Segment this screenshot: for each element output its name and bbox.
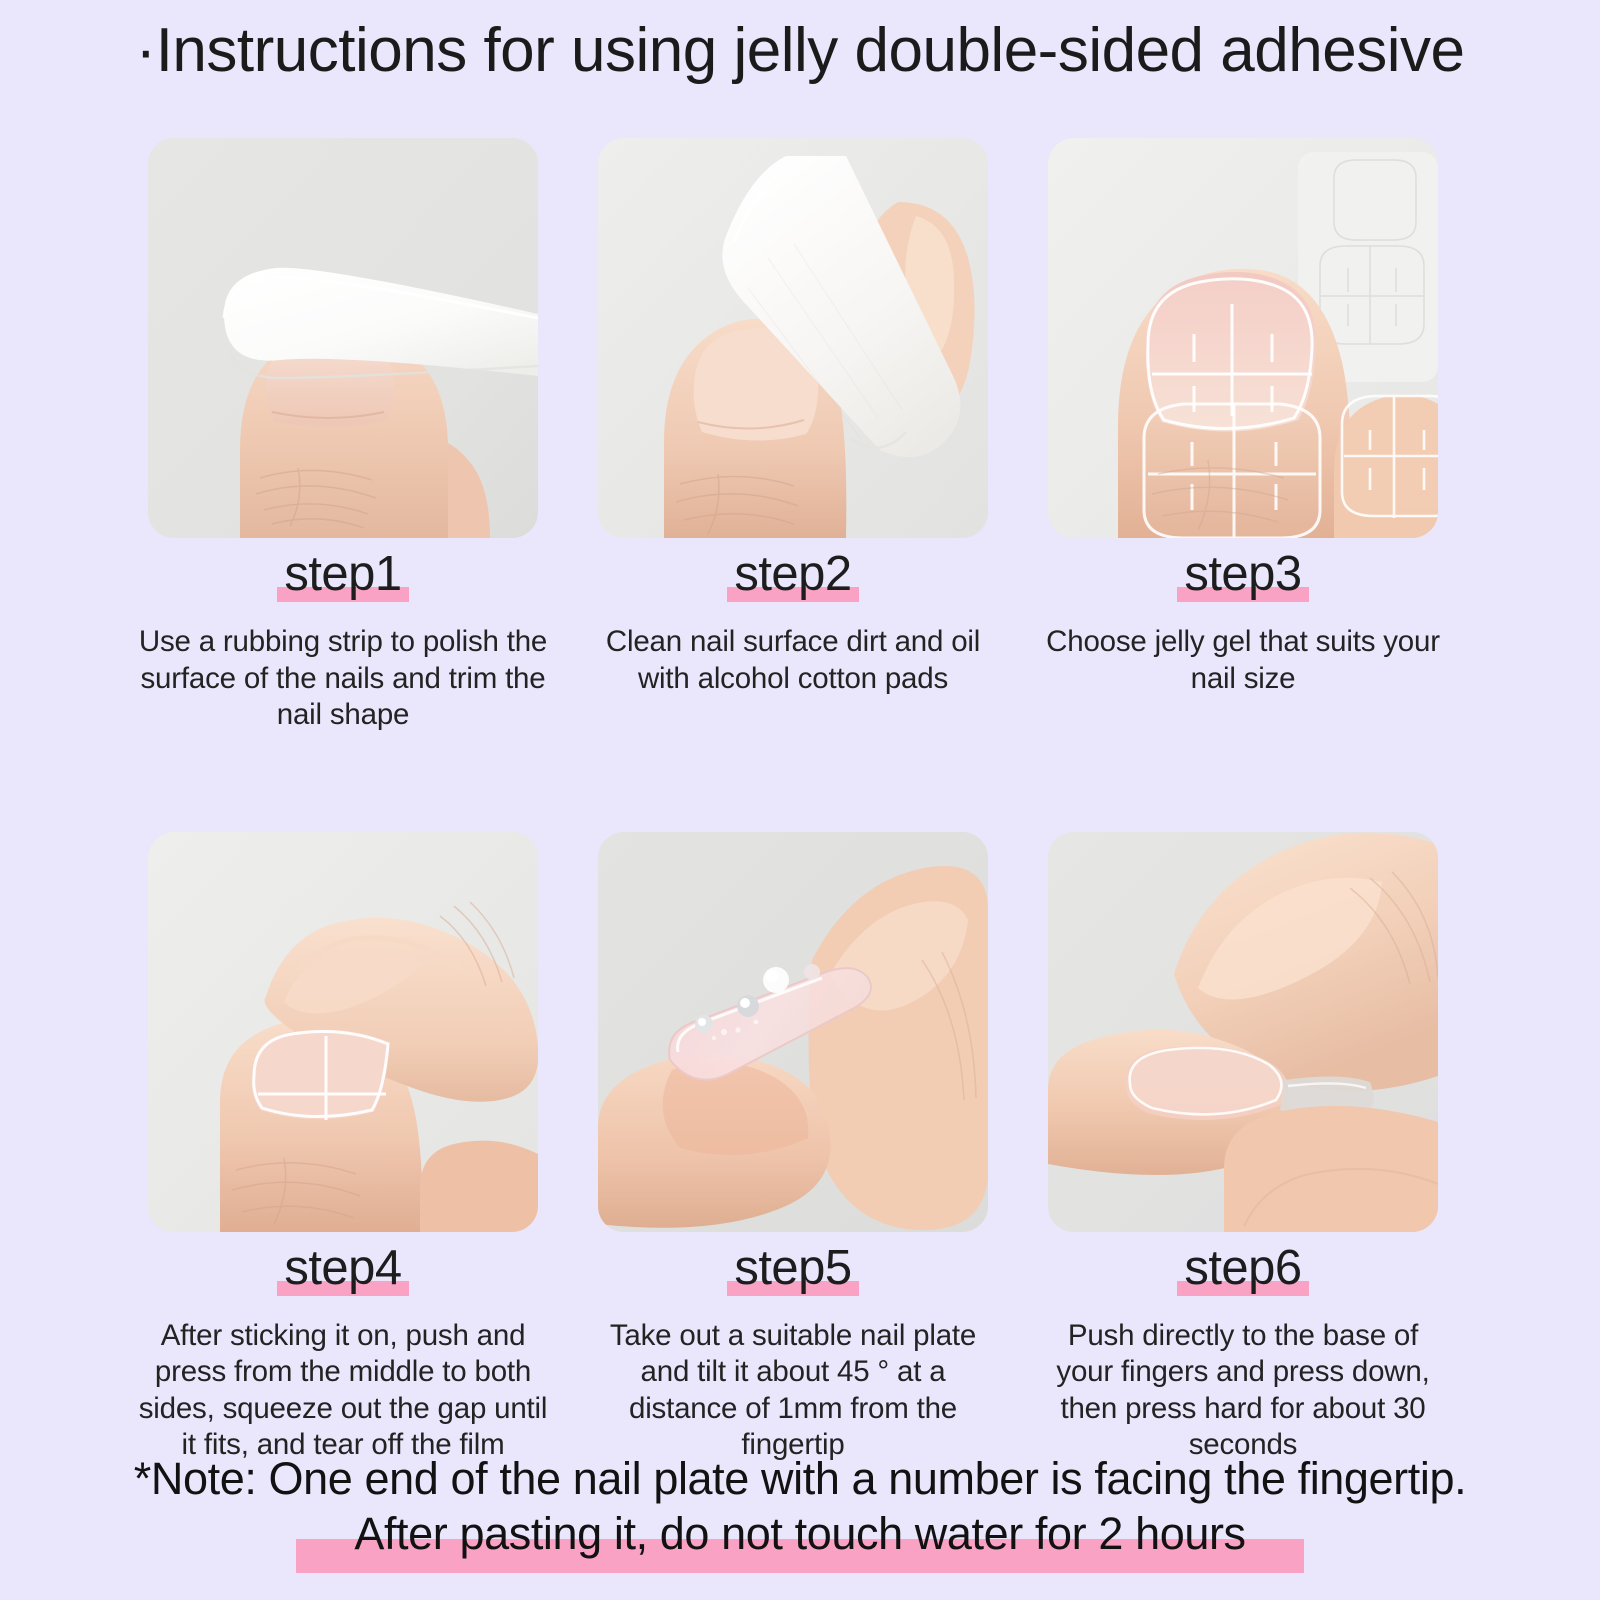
step-label-text: step5	[734, 1244, 851, 1293]
step-label-6: step6	[1184, 1244, 1301, 1310]
step-caption: Choose jelly gel that suits your nail si…	[1038, 624, 1448, 697]
step-cell-3: step3 Choose jelly gel that suits your n…	[1048, 138, 1438, 734]
step-label-2: step2	[734, 550, 851, 616]
step-label-text: step3	[1184, 550, 1301, 599]
bottom-note: *Note: One end of the nail plate with a …	[0, 1452, 1600, 1562]
photo-tilting-nail-plate-onto-fingertip	[598, 832, 988, 1232]
steps-grid: step1 Use a rubbing strip to polish the …	[148, 138, 1438, 1464]
step-cell-2: step2 Clean nail surface dirt and oil wi…	[598, 138, 988, 734]
step-label-5: step5	[734, 1244, 851, 1310]
step-cell-1: step1 Use a rubbing strip to polish the …	[148, 138, 538, 734]
step-label-1: step1	[284, 550, 401, 616]
note-line-1: *Note: One end of the nail plate with a …	[0, 1452, 1600, 1507]
page-title: ·Instructions for using jelly double-sid…	[0, 18, 1600, 85]
photo-pressing-nail-plate-to-base	[1048, 832, 1438, 1232]
step-caption: Clean nail surface dirt and oil with alc…	[588, 624, 998, 697]
step-caption: Take out a suitable nail plate and tilt …	[588, 1318, 998, 1464]
steps-row-top: step1 Use a rubbing strip to polish the …	[148, 138, 1438, 734]
step-label-text: step6	[1184, 1244, 1301, 1293]
steps-row-bottom: step4 After sticking it on, push and pre…	[148, 832, 1438, 1464]
step-label-text: step1	[284, 550, 401, 599]
note-line-2: After pasting it, do not touch water for…	[354, 1508, 1245, 1559]
step-label-text: step2	[734, 550, 851, 599]
note-line-2-wrapper: After pasting it, do not touch water for…	[0, 1507, 1600, 1562]
step-caption: Push directly to the base of your finger…	[1038, 1318, 1448, 1464]
step-caption: Use a rubbing strip to polish the surfac…	[138, 624, 548, 734]
step-cell-4: step4 After sticking it on, push and pre…	[148, 832, 538, 1464]
step-caption: After sticking it on, push and press fro…	[138, 1318, 548, 1464]
photo-pressing-jelly-tab-onto-nail	[148, 832, 538, 1232]
photo-buffing-strip-on-fingernail	[148, 138, 538, 538]
photo-jelly-gel-tabs-on-nail	[1048, 138, 1438, 538]
step-label-3: step3	[1184, 550, 1301, 616]
step-label-4: step4	[284, 1244, 401, 1310]
step-cell-5: step5 Take out a suitable nail plate and…	[598, 832, 988, 1464]
step-cell-6: step6 Push directly to the base of your …	[1048, 832, 1438, 1464]
photo-cotton-pad-wiping-nail	[598, 138, 988, 538]
step-label-text: step4	[284, 1244, 401, 1293]
